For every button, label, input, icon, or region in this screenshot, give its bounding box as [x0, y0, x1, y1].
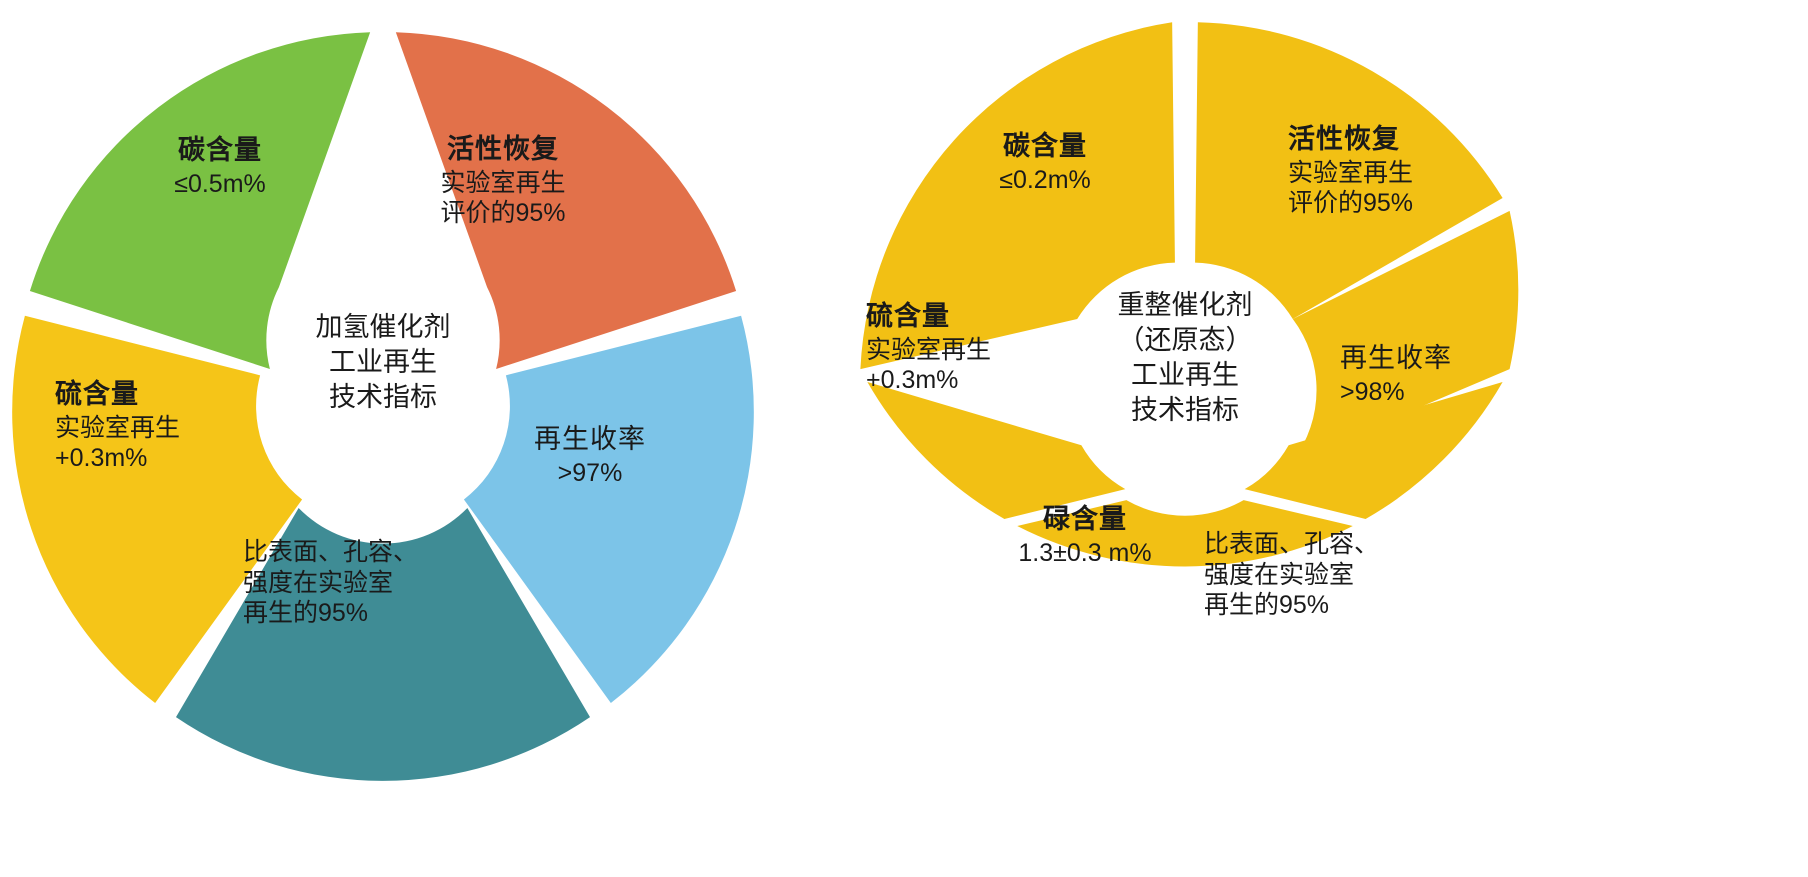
- slice-left-carbon-content[interactable]: [30, 32, 370, 369]
- slice-left-activity-recovery[interactable]: [396, 32, 736, 369]
- right-donut-chart: [860, 22, 1518, 566]
- slice-right-sulfur-content[interactable]: [867, 382, 1125, 519]
- infographic-canvas: 加氢催化剂 工业再生 技术指标 活性恢复 实验室再生 评价的95% 再生收率 >…: [0, 0, 1808, 877]
- donut-charts-svg: [0, 0, 1808, 877]
- slice-right-carbon-content[interactable]: [860, 22, 1175, 369]
- left-donut-chart: [12, 32, 754, 781]
- slice-right-chlorine-content[interactable]: [1017, 500, 1353, 566]
